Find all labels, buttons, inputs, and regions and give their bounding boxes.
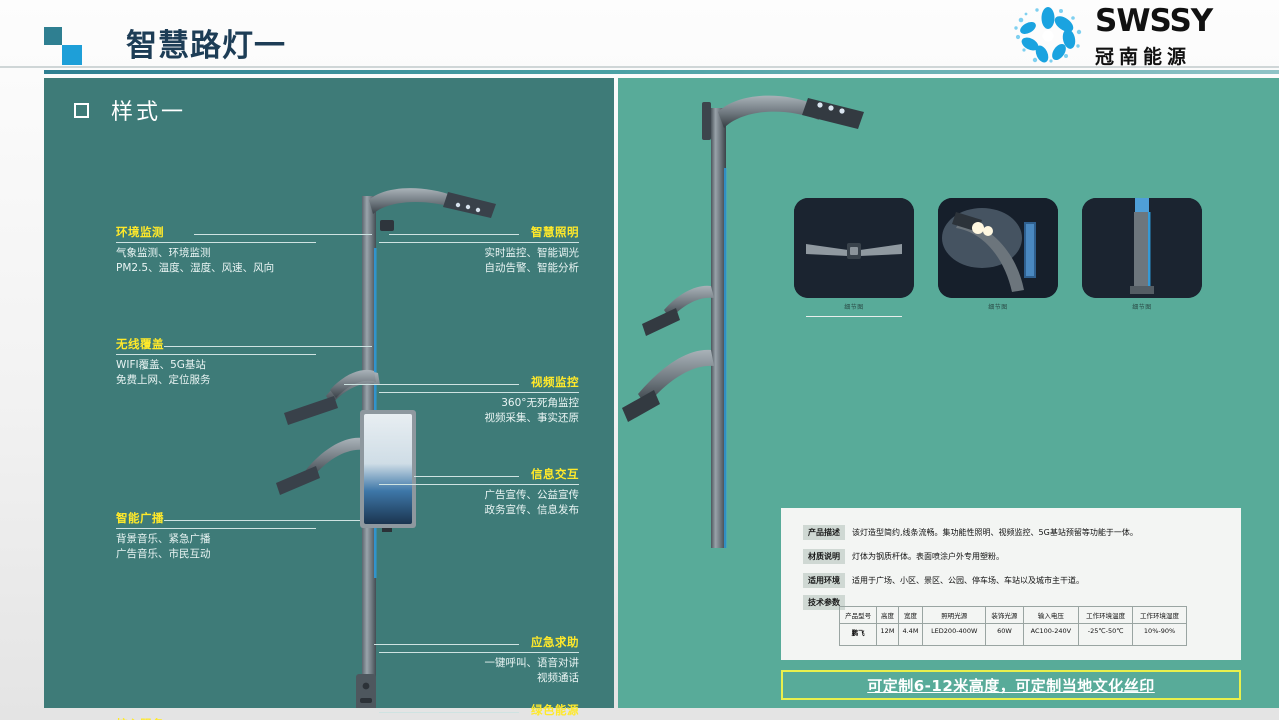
callout-line: 免费上网、定位服务 [116,373,316,388]
callout-line: 广告宣传、公益宣传 [379,488,579,503]
callout-line: 政务宣传、信息发布 [379,503,579,518]
spec-row-material: 材质说明灯体为钢质杆体。表面喷涂户外专用塑粉。 [803,548,1004,566]
callout-title: 绿色能源 [379,702,579,720]
callout-line: 背景音乐、紧急广播 [116,532,316,547]
table-header-cell: 输入电压 [1023,607,1079,624]
table-cell: -25℃-50℃ [1079,624,1133,646]
spec-tag: 产品描述 [803,525,845,540]
brand-logo-text: SWSSY 冠南能源 [1095,6,1212,69]
spec-value: 灯体为钢质杆体。表面喷涂户外专用塑粉。 [852,551,1004,562]
table-header-cell: 照明光源 [923,607,986,624]
callout-line: 360°无死角监控 [379,396,579,411]
table-cell: 60W [986,624,1023,646]
slide-header: 智慧路灯一 [0,0,1279,72]
callout-rule [379,392,579,393]
page-title: 智慧路灯一 [126,20,286,65]
table-header-cell: 工作环境湿度 [1133,607,1187,624]
table-cell: AC100-240V [1023,624,1079,646]
callout-emergency-help: 应急求助 一键呼叫、语音对讲 视频通话 [379,634,579,686]
spec-tag: 材质说明 [803,549,845,564]
lamp-head-lit-detail-thumbnail[interactable] [938,198,1058,298]
callout-line: 一键呼叫、语音对讲 [379,656,579,671]
thumbnail-caption: 细节图 [794,302,914,311]
callout-smart-broadcast: 智能广播 背景音乐、紧急广播 广告音乐、市民互动 [116,510,316,562]
square-dark-icon [44,27,62,45]
spec-row-description: 产品描述该灯造型简约,线条流畅。集功能性照明、视频监控、5G基站预留等功能于一体… [803,524,1138,542]
callout-title: 视频监控 [379,374,579,392]
callout-line: 气象监测、环境监测 [116,246,316,261]
header-divider-thin [0,66,1279,68]
brand-name-latin: SWSSY [1095,6,1212,37]
callout-rule [379,652,579,653]
swssy-water-droplet-logo-icon [1009,6,1087,64]
header-divider [44,70,1279,74]
brand-name-chinese: 冠南能源 [1095,42,1212,69]
callout-line: PM2.5、温度、湿度、风速、风向 [116,261,316,276]
detail-thumbnail-group: 细节图 细节图 细节图 [788,198,1208,328]
right-product-panel: 细节图 细节图 细节图 产品描述该灯造型简约,线条流畅。集功能性照明、视频监控、… [618,78,1279,708]
callout-title: 无线覆盖 [116,336,316,354]
table-header-row: 产品型号 高度 宽度 照明光源 装饰光源 输入电压 工作环境温度 工作环境湿度 [840,607,1187,624]
callout-rule [379,242,579,243]
table-cell: 12M [877,624,899,646]
callout-video-surveillance: 视频监控 360°无死角监控 视频采集、事实还原 [379,374,579,426]
callout-green-energy: 绿色能源 汽车充电 手机充电 [379,702,579,720]
table-header-cell: 高度 [877,607,899,624]
callout-line: 视频通话 [379,671,579,686]
square-blue-icon [62,45,82,65]
callout-title: 核心服务 [116,716,316,720]
callout-environment-monitoring: 环境监测 气象监测、环境监测 PM2.5、温度、湿度、风速、风向 [116,224,316,276]
callout-title: 智慧照明 [379,224,579,242]
left-diagram-panel: 样式一 [44,78,614,708]
callout-rule [116,242,316,243]
callout-title: 环境监测 [116,224,316,242]
customization-banner-text: 可定制6-12米高度，可定制当地文化丝印 [867,675,1155,696]
thumbnail-underline [806,316,902,317]
callout-rule [116,528,316,529]
pole-base-detail-thumbnail[interactable] [1082,198,1202,298]
table-header-cell: 工作环境温度 [1079,607,1133,624]
spec-value: 该灯造型简约,线条流畅。集功能性照明、视频监控、5G基站预留等功能于一体。 [852,527,1138,538]
callout-title: 应急求助 [379,634,579,652]
callout-smart-lighting: 智慧照明 实时监控、智能调光 自动告警、智能分析 [379,224,579,276]
brand-logo: SWSSY 冠南能源 [1009,4,1259,66]
header-square-decoration [44,27,84,65]
thumbnail-caption: 细节图 [938,302,1058,311]
table-cell: 10%-90% [1133,624,1187,646]
table-cell: LED200-400W [923,624,986,646]
technical-parameters-table: 产品型号 高度 宽度 照明光源 装饰光源 输入电压 工作环境温度 工作环境湿度 … [839,606,1187,646]
spec-value: 适用于广场、小区、景区、公园、停车场、车站以及城市主干道。 [852,575,1084,586]
callout-line: 视频采集、事实还原 [379,411,579,426]
callout-line: 广告音乐、市民互动 [116,547,316,562]
callout-wireless-coverage: 无线覆盖 WIFI覆盖、5G基站 免费上网、定位服务 [116,336,316,388]
callout-title: 智能广播 [116,510,316,528]
callout-rule [379,484,579,485]
callout-rule [116,354,316,355]
thumbnail-caption: 细节图 [1082,302,1202,311]
spec-tag: 适用环境 [803,573,845,588]
lamp-arm-detail-thumbnail[interactable] [794,198,914,298]
table-header-cell: 装饰光源 [986,607,1023,624]
table-cell: 4.4M [898,624,922,646]
table-row: 鹏飞 12M 4.4M LED200-400W 60W AC100-240V -… [840,624,1187,646]
callout-information-interaction: 信息交互 广告宣传、公益宣传 政务宣传、信息发布 [379,466,579,518]
product-spec-card: 产品描述该灯造型简约,线条流畅。集功能性照明、视频监控、5G基站预留等功能于一体… [781,508,1241,660]
table-header-cell: 产品型号 [840,607,877,624]
callout-core-service: 核心服务 业务整合、数据分析 网络服务、电力分配 [116,716,316,720]
callout-line: 实时监控、智能调光 [379,246,579,261]
callout-line: WIFI覆盖、5G基站 [116,358,316,373]
callout-line: 自动告警、智能分析 [379,261,579,276]
spec-row-environment: 适用环境适用于广场、小区、景区、公园、停车场、车站以及城市主干道。 [803,572,1084,590]
customization-banner: 可定制6-12米高度，可定制当地文化丝印 [781,670,1241,700]
table-header-cell: 宽度 [898,607,922,624]
callout-title: 信息交互 [379,466,579,484]
slide-root: 智慧路灯一 [0,0,1279,720]
table-cell: 鹏飞 [840,624,877,646]
